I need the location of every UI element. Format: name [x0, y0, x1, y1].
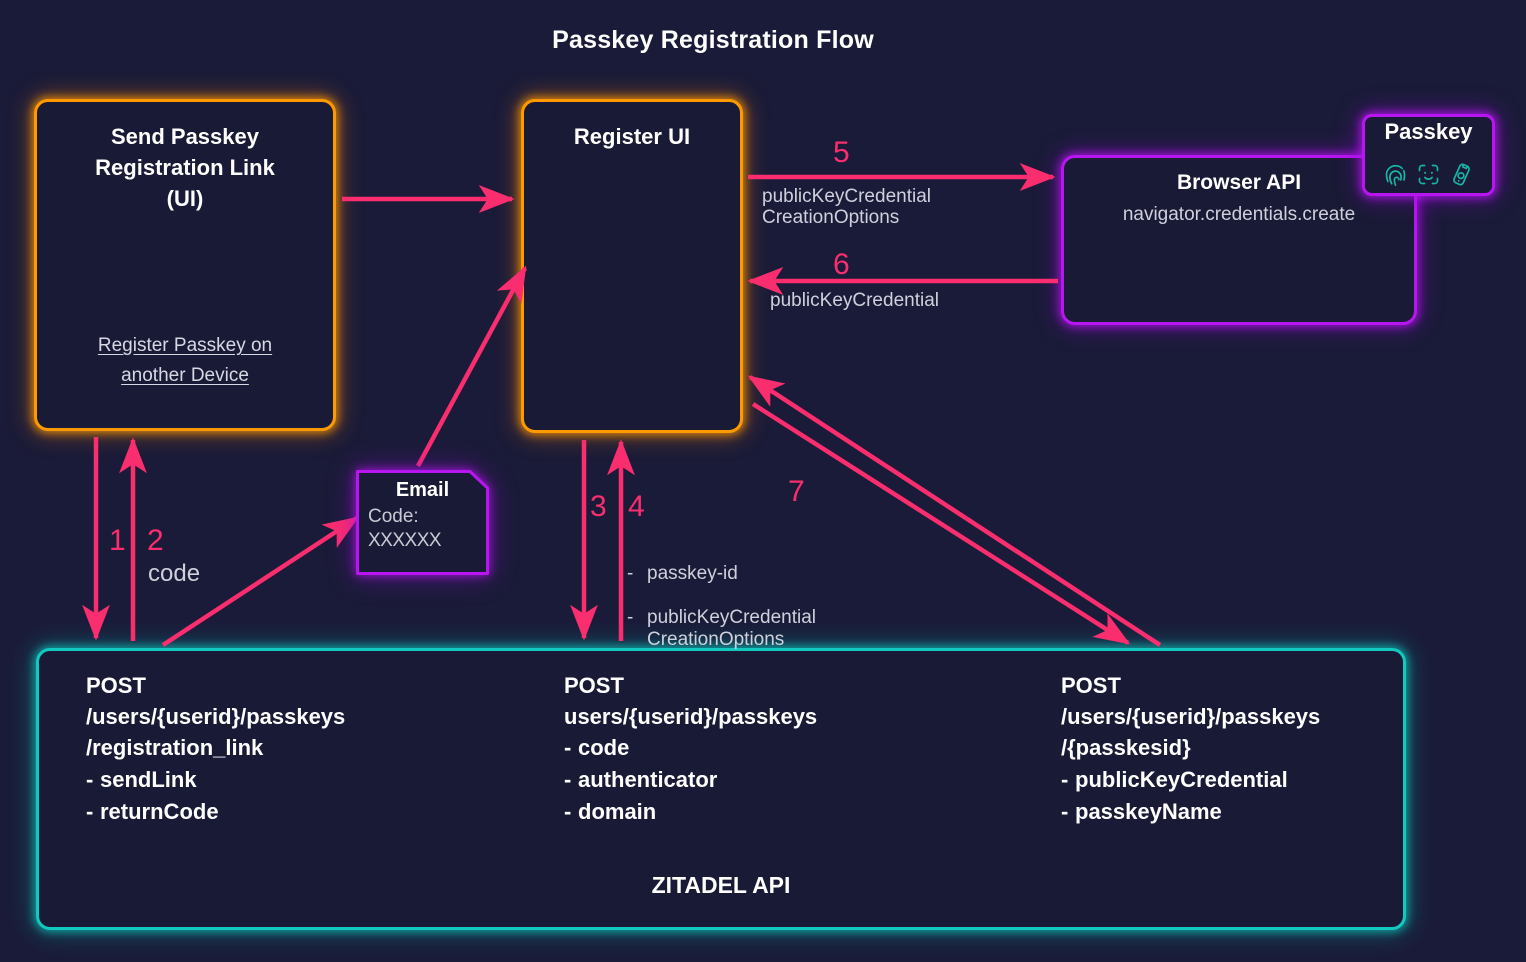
arrow-email-to-register	[418, 268, 525, 466]
node-email-note: Email Code: XXXXXX	[356, 470, 489, 575]
node-zitadel-api[interactable]: POST /users/{userid}/passkeys /registrat…	[36, 648, 1406, 930]
api-param: code	[564, 732, 994, 764]
email-code-label: Code:	[368, 506, 419, 528]
api-path: /users/{userid}/passkeys /registration_l…	[86, 701, 516, 763]
page-title: Passkey Registration Flow	[0, 26, 1426, 55]
bullet-dash: -	[627, 563, 635, 585]
zitadel-api-label: ZITADEL API	[39, 872, 1403, 899]
send-link-title: Send Passkey Registration Link (UI)	[37, 122, 333, 214]
bullet-row: - passkey-id	[627, 563, 816, 585]
step-number-3: 3	[590, 492, 607, 522]
bullet-row: - publicKeyCredential CreationOptions	[627, 607, 816, 651]
api-endpoint-block: POST users/{userid}/passkeys code authen…	[564, 670, 994, 828]
passkey-badge-label: Passkey	[1365, 119, 1492, 145]
step-number-2: 2	[147, 526, 164, 556]
api-endpoint-block: POST /users/{userid}/passkeys /registrat…	[86, 670, 516, 827]
face-id-icon	[1415, 161, 1442, 188]
step-number-1: 1	[109, 526, 126, 556]
api-path: users/{userid}/passkeys	[564, 701, 994, 732]
bullet-text: passkey-id	[647, 563, 738, 585]
api-param-list: code authenticator domain	[564, 732, 994, 828]
register-ui-title: Register UI	[524, 124, 740, 150]
step-number-6: 6	[833, 250, 850, 280]
api-param: sendLink	[86, 764, 516, 796]
api-param: returnCode	[86, 796, 516, 828]
fingerprint-icon	[1382, 161, 1409, 188]
email-code-value: XXXXXX	[368, 530, 441, 552]
diagram-canvas: Passkey Registration Flow Send Passkey R…	[0, 0, 1526, 962]
step-number-7: 7	[788, 477, 805, 507]
api-param-list: sendLink returnCode	[86, 764, 516, 828]
api-path: /users/{userid}/passkeys /{passkesid}	[1061, 701, 1461, 763]
passkey-badge: Passkey	[1362, 114, 1495, 196]
api-verb: POST	[1061, 670, 1461, 701]
api-param: authenticator	[564, 764, 994, 796]
api-param: domain	[564, 796, 994, 828]
api-endpoint-block: POST /users/{userid}/passkeys /{passkesi…	[1061, 670, 1461, 827]
step-number-4: 4	[628, 492, 645, 522]
node-send-passkey-registration-link[interactable]: Send Passkey Registration Link (UI) Regi…	[34, 99, 336, 431]
browser-api-subtitle: navigator.credentials.create	[1064, 204, 1414, 226]
edge-label-step4-bullets: - passkey-id - publicKeyCredential Creat…	[627, 541, 816, 673]
node-register-ui[interactable]: Register UI	[521, 99, 743, 433]
bullet-dash: -	[627, 607, 635, 651]
email-note-title: Email	[356, 479, 489, 502]
edge-label-step5: publicKeyCredential CreationOptions	[762, 186, 931, 229]
edge-label-step2-code: code	[148, 560, 200, 587]
passkey-icon-row	[1365, 161, 1492, 188]
api-param: publicKeyCredential	[1061, 764, 1461, 796]
security-key-icon	[1448, 161, 1475, 188]
api-verb: POST	[564, 670, 994, 701]
bullet-text: publicKeyCredential CreationOptions	[647, 607, 816, 651]
register-on-another-device-link[interactable]: Register Passkey on another Device	[37, 331, 333, 390]
step-number-5: 5	[833, 138, 850, 168]
api-param-list: publicKeyCredential passkeyName	[1061, 764, 1461, 828]
api-param: passkeyName	[1061, 796, 1461, 828]
edge-label-step6: publicKeyCredential	[770, 290, 939, 311]
api-verb: POST	[86, 670, 516, 701]
